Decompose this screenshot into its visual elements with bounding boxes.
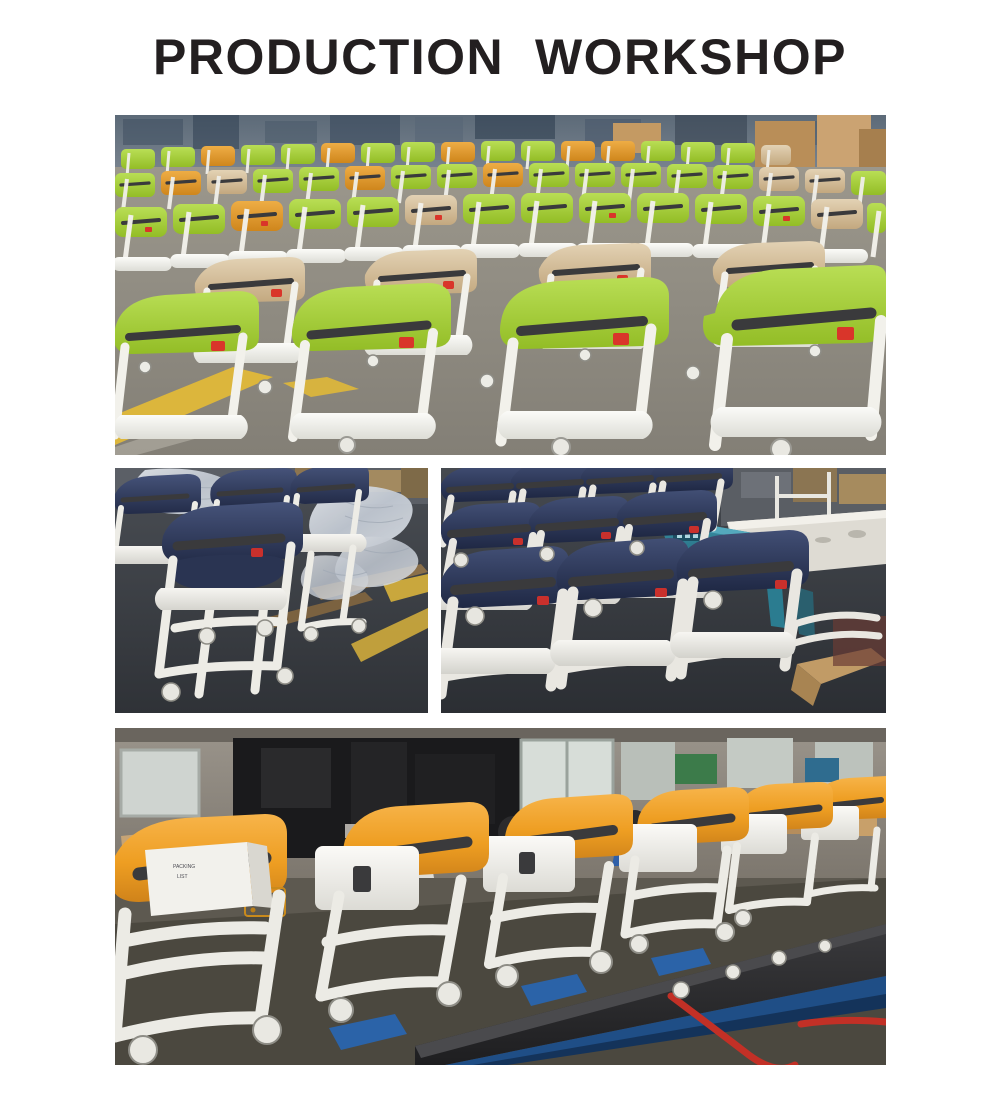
photo-top-transfer-chair-rows xyxy=(115,115,886,455)
photo-bottom-orange-chair-assembly-line: PACKING LIST xyxy=(115,728,886,1065)
packing-list-label: PACKING xyxy=(173,864,195,870)
photo-top-illustration xyxy=(115,115,886,455)
photo-mid-left-illustration xyxy=(115,468,428,713)
photo-mid-left-wrapped-navy-chairs xyxy=(115,468,428,713)
page-title: PRODUCTION WORKSHOP xyxy=(0,28,1000,86)
packing-list-label-2: LIST xyxy=(177,874,188,880)
photo-mid-right-navy-chair-assembly-row xyxy=(441,468,886,713)
production-workshop-photo-gallery: PACKING LIST xyxy=(115,115,886,1065)
photo-mid-right-illustration xyxy=(441,468,886,713)
photo-bottom-illustration: PACKING LIST xyxy=(115,728,886,1065)
